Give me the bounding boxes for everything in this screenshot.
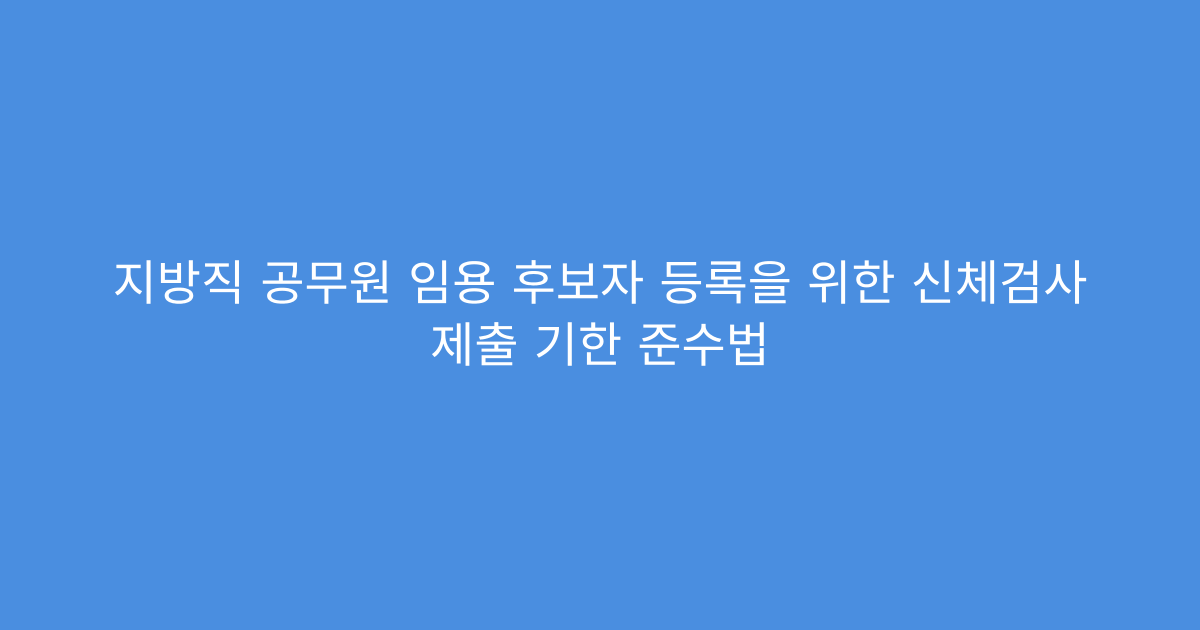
title-block: 지방직 공무원 임용 후보자 등록을 위한 신체검사 제출 기한 준수법 xyxy=(70,253,1130,377)
page-title: 지방직 공무원 임용 후보자 등록을 위한 신체검사 제출 기한 준수법 xyxy=(90,253,1110,377)
og-card: 지방직 공무원 임용 후보자 등록을 위한 신체검사 제출 기한 준수법 xyxy=(0,0,1200,630)
